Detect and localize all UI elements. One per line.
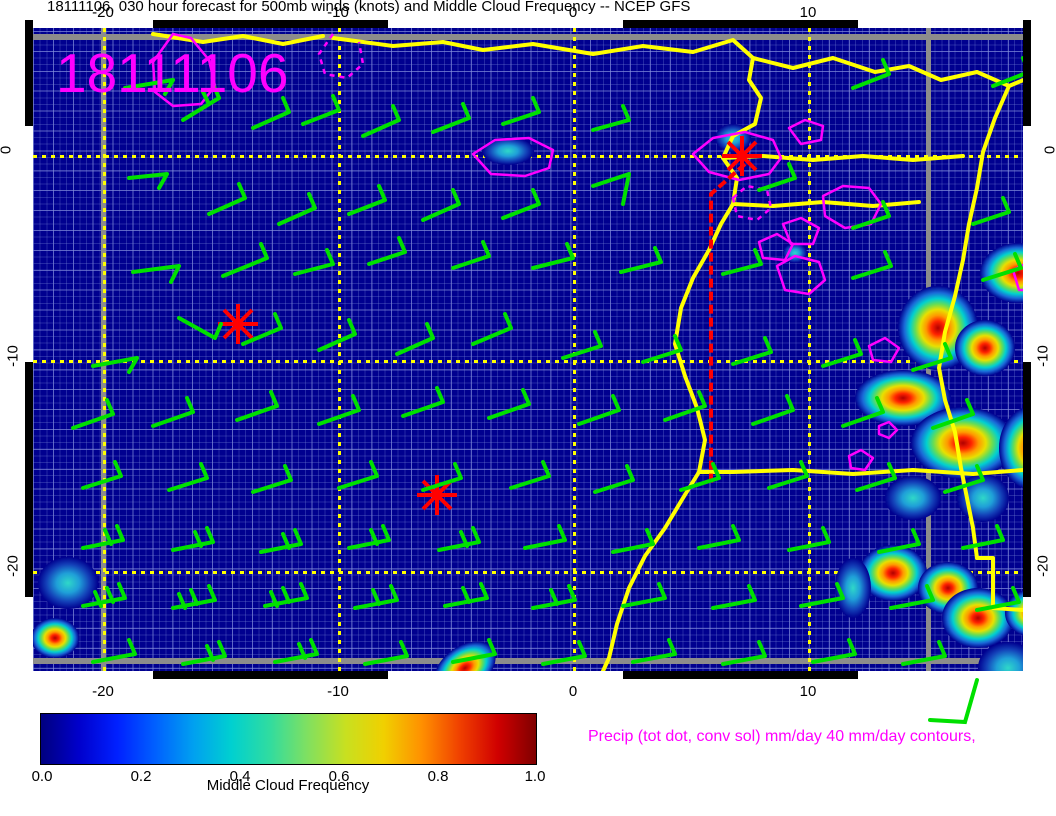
coastline-layer (153, 34, 1023, 671)
map-plot-frame: 18111106 (25, 20, 1031, 679)
precip-contour-layer (153, 34, 1023, 540)
map-canvas[interactable]: 18111106 (33, 28, 1023, 671)
overflow-wind-barb (925, 676, 1056, 726)
axis-frame-top-seg2 (153, 20, 388, 28)
storm-marker-layer (218, 136, 762, 515)
storm-marker-3 (722, 136, 762, 176)
map-datestamp: 18111106 (56, 46, 288, 101)
axis-frame-left-seg1 (25, 20, 33, 126)
axis-frame-top-seg3 (623, 20, 858, 28)
axis-frame-bottom-seg1 (153, 671, 388, 679)
axis-frame-right-seg2 (1023, 362, 1031, 597)
axis-frame-bottom-seg2 (623, 671, 858, 679)
axis-frame-right-seg1 (1023, 20, 1031, 126)
map-vector-overlay (33, 28, 1023, 671)
colorbar-gradient (41, 714, 536, 764)
page-title: 18111106, 030 hour forecast for 500mb wi… (47, 0, 690, 15)
colorbar[interactable] (40, 713, 537, 765)
precip-legend-note: Precip (tot dot, conv sol) mm/day 40 mm/… (588, 728, 976, 746)
axis-frame-left-seg2 (25, 362, 33, 597)
storm-marker-1 (218, 304, 258, 344)
colorbar-label: Middle Cloud Frequency (207, 777, 370, 794)
